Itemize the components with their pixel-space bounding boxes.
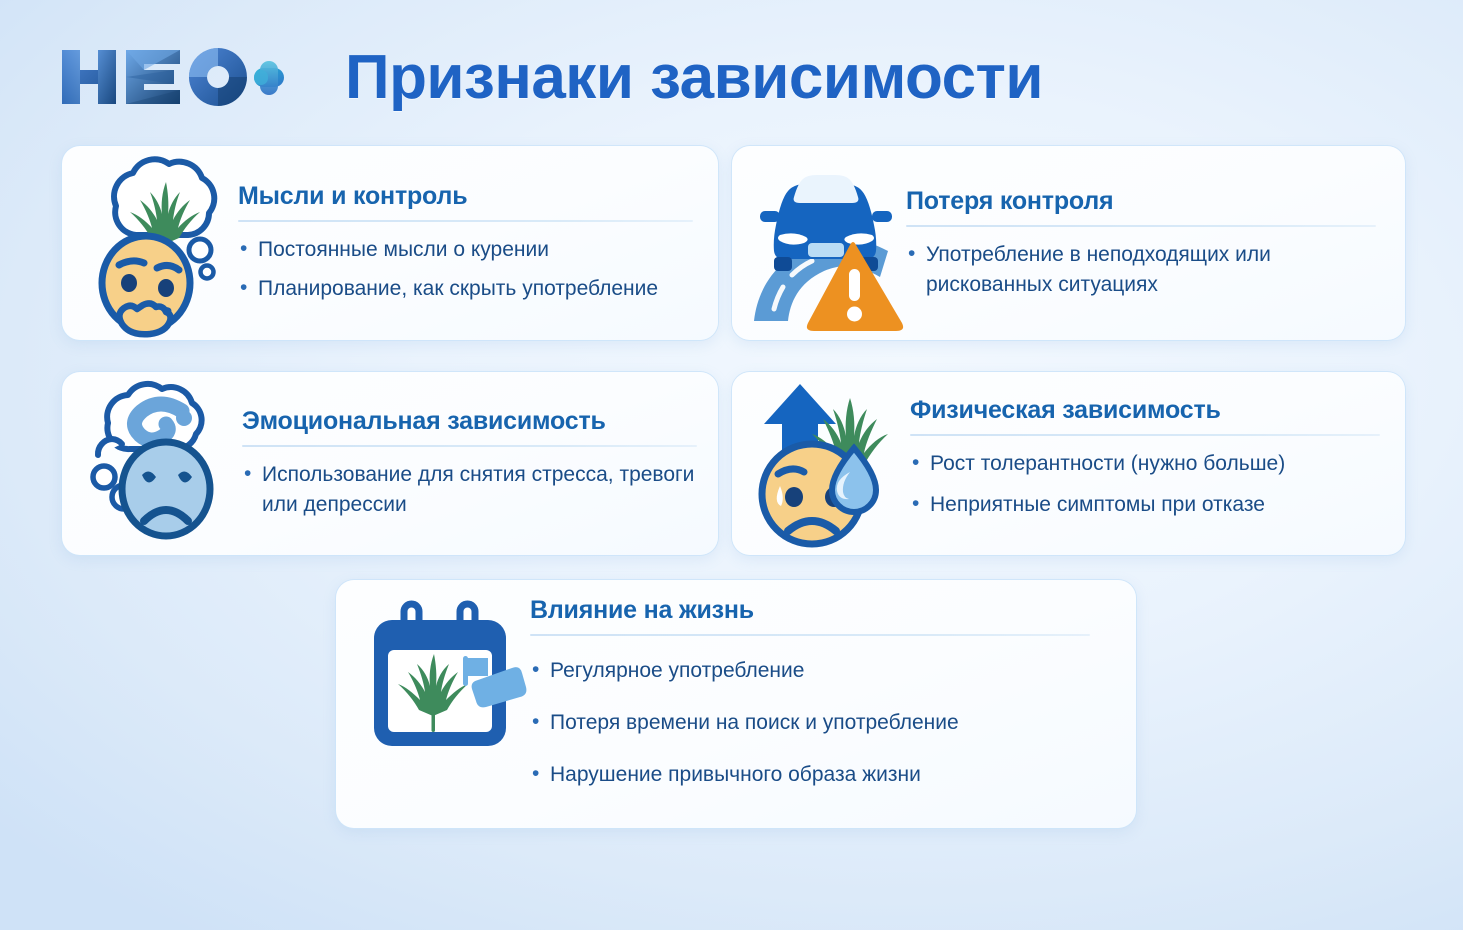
card-life-impact[interactable]: Влияние на жизнь Регулярное употребление… [336,580,1136,828]
list-item: Неприятные симптомы при отказе [910,490,1383,520]
bullet-list: Употребление в неподходящих или рискован… [906,240,1383,300]
thought-bubble-leaf-thinking-face-icon [70,148,238,338]
heading-divider [238,220,693,222]
card-heading: Эмоциональная зависимость [242,407,696,436]
card-heading: Потеря контроля [906,187,1383,216]
card-heading: Мысли и контроль [238,182,696,211]
card-body: Физическая зависимость Рост толерантност… [910,396,1405,531]
card-emotional-dependence[interactable]: Эмоциональная зависимость Использование … [62,372,718,555]
heading-divider [242,445,697,447]
bullet-list: Использование для снятия стресса, тревог… [242,460,696,520]
bullet-list: Постоянные мысли о курении Планирование,… [238,235,696,304]
car-road-warning-icon [746,153,906,333]
card-heading: Влияние на жизнь [530,596,1096,625]
list-item: Рост толерантности (нужно больше) [910,449,1383,479]
list-item: Использование для снятия стресса, тревог… [242,460,696,520]
card-body: Влияние на жизнь Регулярное употребление… [530,596,1136,811]
bullet-list: Регулярное употребление Потеря времени н… [530,656,1096,789]
list-item: Нарушение привычного образа жизни [530,760,1096,790]
heading-divider [530,634,1090,636]
heading-divider [906,225,1376,227]
card-loss-of-control[interactable]: Потеря контроля Употребление в неподходя… [732,146,1405,340]
heading-divider [910,434,1380,436]
card-heading: Физическая зависимость [910,396,1383,425]
header: Признаки зависимости [0,0,1463,140]
calendar-leaf-icon [360,598,530,768]
card-body: Мысли и контроль Постоянные мысли о куре… [238,182,718,304]
infographic-canvas: Признаки зависимости [0,0,1463,930]
card-body: Потеря контроля Употребление в неподходя… [906,187,1405,300]
page-title: Признаки зависимости [345,42,1043,113]
list-item: Потеря времени на поиск и употребление [530,708,1096,738]
up-arrow-leaf-sweating-face-icon [750,376,910,551]
list-item: Планирование, как скрыть употребление [238,274,696,304]
list-item: Постоянные мысли о курении [238,235,696,265]
sad-face-thought-cloud-icon [74,379,242,549]
neo-plus-logo [58,44,286,110]
card-physical-dependence[interactable]: Физическая зависимость Рост толерантност… [732,372,1405,555]
card-body: Эмоциональная зависимость Использование … [242,407,718,520]
card-thoughts-and-control[interactable]: Мысли и контроль Постоянные мысли о куре… [62,146,718,340]
list-item: Регулярное употребление [530,656,1096,686]
bullet-list: Рост толерантности (нужно больше) Неприя… [910,449,1383,520]
list-item: Употребление в неподходящих или рискован… [906,240,1383,300]
